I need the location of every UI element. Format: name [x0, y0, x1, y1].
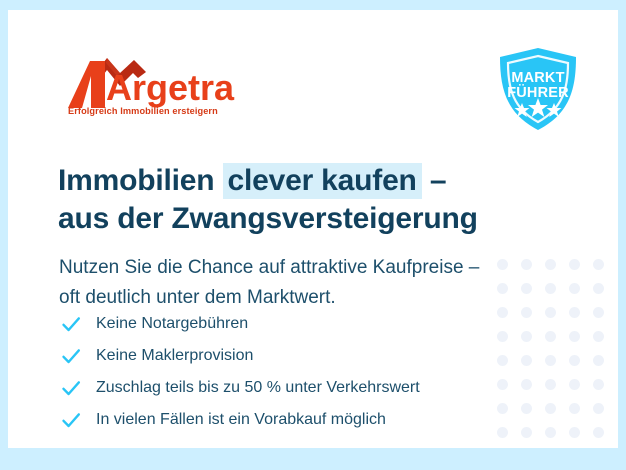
check-icon	[60, 377, 82, 399]
list-item: Keine Notargebühren	[60, 308, 560, 339]
benefit-label: Keine Maklerprovision	[96, 345, 253, 367]
badge-line1: MARKT	[511, 70, 564, 86]
headline-line2: aus der Zwangsversteigerung	[58, 200, 578, 238]
decorative-dot	[593, 355, 604, 366]
decorative-dot	[593, 403, 604, 414]
subheadline: Nutzen Sie die Chance auf attraktive Kau…	[59, 253, 579, 313]
decorative-dot	[593, 427, 604, 438]
subheadline-line1: Nutzen Sie die Chance auf attraktive Kau…	[59, 253, 579, 283]
check-icon	[60, 409, 82, 431]
logo-tagline: Erfolgreich Immobilien ersteigern	[68, 106, 218, 116]
decorative-dot	[593, 331, 604, 342]
decorative-dot	[593, 283, 604, 294]
argetra-logo[interactable]: Argetra Erfolgreich Immobilien ersteiger…	[60, 52, 250, 118]
banner-card: Argetra Erfolgreich Immobilien ersteiger…	[8, 10, 618, 448]
decorative-dot	[569, 379, 580, 390]
promo-banner: Argetra Erfolgreich Immobilien ersteiger…	[0, 0, 626, 470]
list-item: Keine Maklerprovision	[60, 340, 560, 371]
list-item: In vielen Fällen ist ein Vorabkauf mögli…	[60, 404, 560, 435]
headline-highlight: clever kaufen	[223, 163, 422, 199]
decorative-dot	[593, 307, 604, 318]
market-leader-badge: MARKT FÜHRER	[497, 46, 579, 132]
check-icon	[60, 313, 82, 335]
decorative-dot	[593, 379, 604, 390]
decorative-dot	[593, 259, 604, 270]
decorative-dot	[569, 355, 580, 366]
decorative-dot	[569, 427, 580, 438]
decorative-dot	[569, 331, 580, 342]
list-item: Zuschlag teils bis zu 50 % unter Verkehr…	[60, 372, 560, 403]
headline: Immobilien clever kaufen – aus der Zwang…	[58, 162, 578, 238]
benefit-label: Zuschlag teils bis zu 50 % unter Verkehr…	[96, 377, 420, 399]
headline-text-post: –	[422, 164, 447, 197]
logo-wordmark: Argetra	[106, 67, 235, 108]
check-icon	[60, 345, 82, 367]
benefit-label: In vielen Fällen ist ein Vorabkauf mögli…	[96, 409, 386, 431]
headline-text-pre: Immobilien	[58, 164, 223, 197]
decorative-dot	[569, 403, 580, 414]
benefit-list: Keine Notargebühren Keine Maklerprovisio…	[60, 308, 560, 436]
headline-line1: Immobilien clever kaufen –	[58, 163, 446, 199]
benefit-label: Keine Notargebühren	[96, 313, 248, 335]
